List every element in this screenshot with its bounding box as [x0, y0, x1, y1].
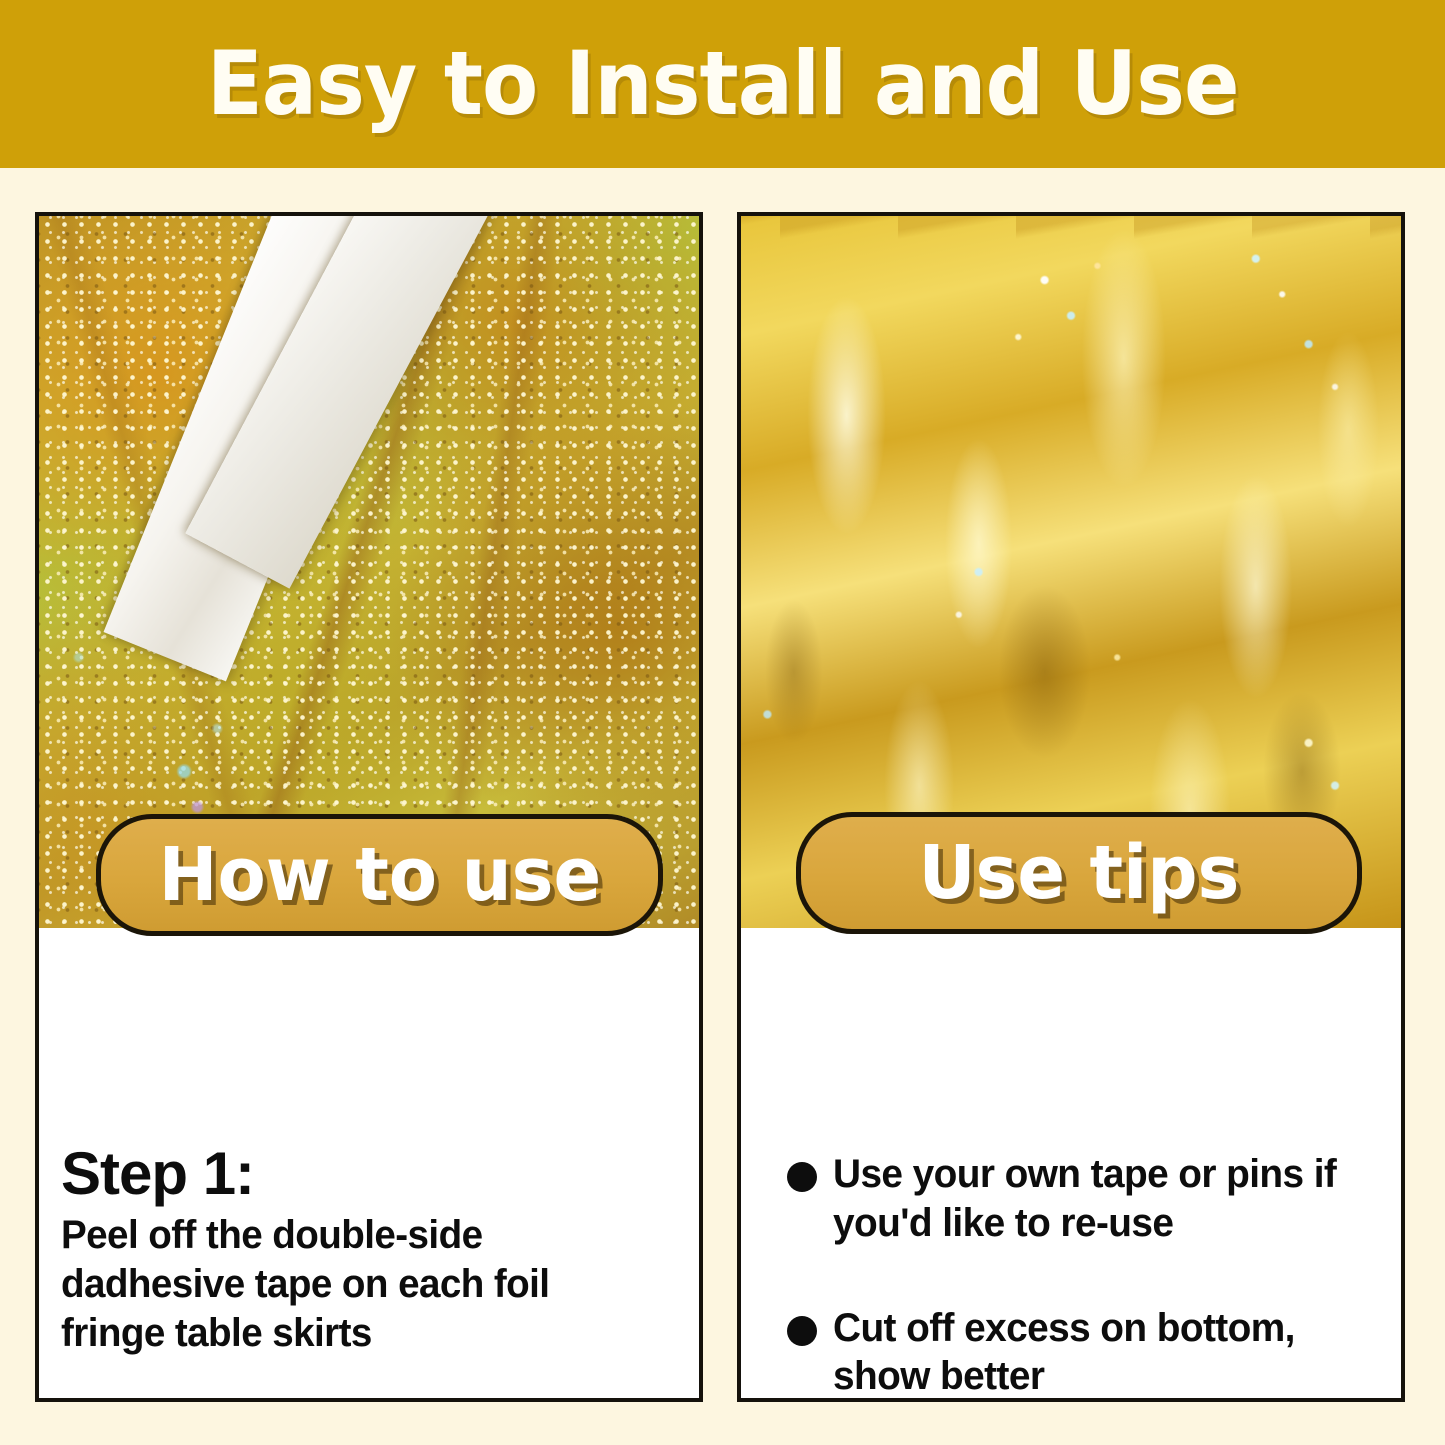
use-tips-content: Use your own tape or pins if you'd like …	[741, 928, 1401, 1398]
step-item: Step 1: Peel off the double-side dadhesi…	[61, 1142, 677, 1357]
step-body: Peel off the double-side dadhesive tape …	[61, 1211, 655, 1357]
list-item: Cut off excess on bottom, show better	[787, 1304, 1375, 1402]
use-tips-badge: Use tips	[796, 812, 1362, 934]
header-band: Easy to Install and Use	[0, 0, 1445, 168]
infographic-page: Easy to Install and Use Step 1: Peel off…	[0, 0, 1445, 1445]
bullet-icon	[787, 1162, 817, 1192]
tip-text: Use your own tape or pins if you'd like …	[833, 1150, 1359, 1248]
step-item: Step 2: Decorate your party by putting a…	[61, 1393, 677, 1402]
how-to-use-badge: How to use	[96, 814, 663, 936]
panels-container: Step 1: Peel off the double-side dadhesi…	[0, 168, 1445, 1445]
tip-text: Cut off excess on bottom, show better	[833, 1304, 1359, 1402]
use-tips-badge-label: Use tips	[919, 836, 1240, 910]
step-title: Step 2:	[61, 1393, 677, 1402]
how-to-use-content: Step 1: Peel off the double-side dadhesi…	[39, 928, 699, 1398]
how-to-use-badge-label: How to use	[158, 838, 601, 912]
page-title: Easy to Install and Use	[207, 40, 1239, 128]
steps-list: Step 1: Peel off the double-side dadhesi…	[39, 1142, 699, 1402]
step-title: Step 1:	[61, 1142, 677, 1205]
use-tips-panel: Use your own tape or pins if you'd like …	[737, 212, 1405, 1402]
list-item: Use your own tape or pins if you'd like …	[787, 1150, 1375, 1248]
how-to-use-panel: Step 1: Peel off the double-side dadhesi…	[35, 212, 703, 1402]
tips-list: Use your own tape or pins if you'd like …	[741, 1150, 1401, 1402]
bullet-icon	[787, 1316, 817, 1346]
